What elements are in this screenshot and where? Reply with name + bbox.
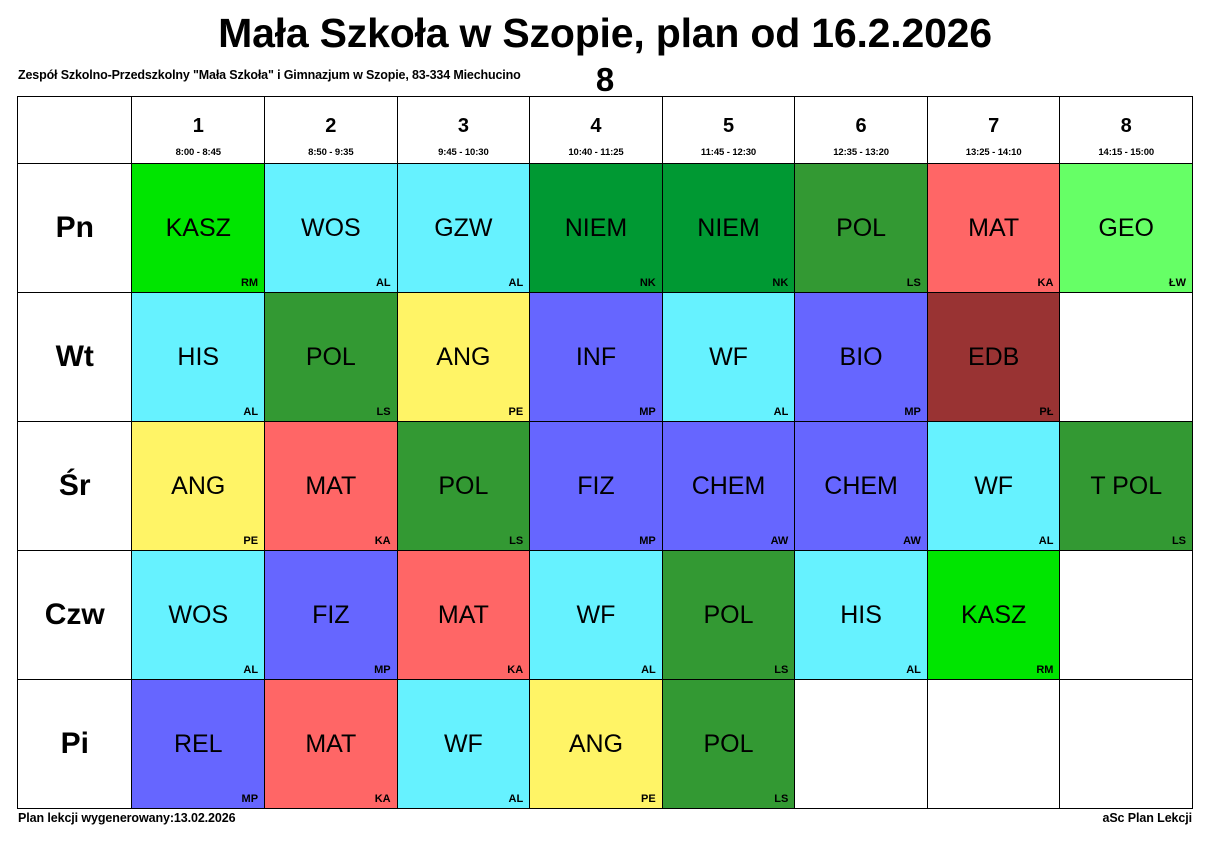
- subject-label: POL: [795, 214, 927, 242]
- lesson-cell-empty: [1060, 293, 1193, 422]
- lesson-block: MATKA: [398, 551, 530, 679]
- teacher-label: RM: [1036, 664, 1053, 676]
- subject-label: MAT: [265, 472, 397, 500]
- subject-label: HIS: [795, 601, 927, 629]
- lesson-block: POLLS: [663, 680, 795, 808]
- lesson-block: POLLS: [265, 293, 397, 421]
- lesson-block: EDBPŁ: [928, 293, 1060, 421]
- producer-label: aSc Plan Lekcji: [1102, 811, 1192, 825]
- lesson-cell[interactable]: POLLS: [795, 164, 928, 293]
- lesson-cell[interactable]: POLLS: [397, 422, 530, 551]
- timetable: 1 8:00 - 8:45 2 8:50 - 9:35 3 9:45 - 10:…: [17, 96, 1193, 809]
- subject-label: KASZ: [928, 601, 1060, 629]
- lesson-block: KASZRM: [132, 164, 264, 292]
- teacher-label: AL: [1039, 535, 1054, 547]
- subject-label: CHEM: [795, 472, 927, 500]
- teacher-label: KA: [1038, 277, 1054, 289]
- lesson-block: CHEMAW: [663, 422, 795, 550]
- lesson-cell[interactable]: INFMP: [530, 293, 663, 422]
- lesson-block: NIEMNK: [530, 164, 662, 292]
- lesson-cell[interactable]: MATKA: [265, 680, 398, 809]
- page-title: Mała Szkoła w Szopie, plan od 16.2.2026: [0, 8, 1210, 58]
- teacher-label: PE: [243, 535, 258, 547]
- subject-label: POL: [398, 472, 530, 500]
- period-time: 13:25 - 14:10: [928, 147, 1060, 159]
- lesson-cell[interactable]: NIEMNK: [662, 164, 795, 293]
- lesson-block: ANGPE: [398, 293, 530, 421]
- lesson-block: WFAL: [530, 551, 662, 679]
- timetable-row: ŚrANGPEMATKAPOLLSFIZMPCHEMAWCHEMAWWFALT …: [18, 422, 1193, 551]
- subject-label: ANG: [132, 472, 264, 500]
- lesson-block: MATKA: [265, 422, 397, 550]
- lesson-block: WOSAL: [132, 551, 264, 679]
- period-number: 6: [795, 115, 927, 137]
- lesson-block: FIZMP: [530, 422, 662, 550]
- period-header-5: 5 11:45 - 12:30: [662, 97, 795, 164]
- lesson-cell[interactable]: CHEMAW: [795, 422, 928, 551]
- class-label: 8: [0, 60, 1210, 100]
- teacher-label: MP: [242, 793, 259, 805]
- lesson-cell[interactable]: CHEMAW: [662, 422, 795, 551]
- lesson-block: WOSAL: [265, 164, 397, 292]
- subject-label: KASZ: [132, 214, 264, 242]
- teacher-label: LS: [907, 277, 921, 289]
- lesson-cell[interactable]: FIZMP: [530, 422, 663, 551]
- lesson-block: KASZRM: [928, 551, 1060, 679]
- timetable-row: CzwWOSALFIZMPMATKAWFALPOLLSHISALKASZRM: [18, 551, 1193, 680]
- lesson-cell[interactable]: GEOŁW: [1060, 164, 1193, 293]
- teacher-label: AL: [376, 277, 391, 289]
- lesson-cell[interactable]: KASZRM: [132, 164, 265, 293]
- period-header-1: 1 8:00 - 8:45: [132, 97, 265, 164]
- subject-label: WF: [928, 472, 1060, 500]
- lesson-cell[interactable]: NIEMNK: [530, 164, 663, 293]
- lesson-cell[interactable]: MATKA: [927, 164, 1060, 293]
- teacher-label: KA: [507, 664, 523, 676]
- subject-label: T POL: [1060, 472, 1192, 500]
- period-header-4: 4 10:40 - 11:25: [530, 97, 663, 164]
- teacher-label: PE: [641, 793, 656, 805]
- lesson-cell[interactable]: WFAL: [530, 551, 663, 680]
- day-label: Pi: [18, 680, 132, 809]
- period-time: 14:15 - 15:00: [1060, 147, 1192, 159]
- lesson-block: HISAL: [795, 551, 927, 679]
- lesson-block: WFAL: [398, 680, 530, 808]
- subject-label: ANG: [530, 730, 662, 758]
- subject-label: REL: [132, 730, 264, 758]
- lesson-cell[interactable]: WOSAL: [132, 551, 265, 680]
- lesson-block: RELMP: [132, 680, 264, 808]
- lesson-block: [795, 680, 927, 808]
- subject-label: INF: [530, 343, 662, 371]
- teacher-label: AL: [509, 277, 524, 289]
- timetable-row: PnKASZRMWOSALGZWALNIEMNKNIEMNKPOLLSMATKA…: [18, 164, 1193, 293]
- teacher-label: LS: [1172, 535, 1186, 547]
- lesson-block: FIZMP: [265, 551, 397, 679]
- period-number: 2: [265, 115, 397, 137]
- period-time: 12:35 - 13:20: [795, 147, 927, 159]
- teacher-label: ŁW: [1169, 277, 1186, 289]
- generated-date: Plan lekcji wygenerowany:13.02.2026: [18, 811, 235, 825]
- lesson-block: MATKA: [928, 164, 1060, 292]
- period-time: 11:45 - 12:30: [663, 147, 795, 159]
- day-label: Pn: [18, 164, 132, 293]
- teacher-label: AL: [774, 406, 789, 418]
- period-number: 7: [928, 115, 1060, 137]
- lesson-cell[interactable]: HISAL: [795, 551, 928, 680]
- period-header-6: 6 12:35 - 13:20: [795, 97, 928, 164]
- lesson-cell[interactable]: EDBPŁ: [927, 293, 1060, 422]
- subject-label: FIZ: [265, 601, 397, 629]
- lesson-cell[interactable]: RELMP: [132, 680, 265, 809]
- period-time: 8:00 - 8:45: [132, 147, 264, 159]
- teacher-label: AL: [243, 664, 258, 676]
- period-number: 8: [1060, 115, 1192, 137]
- lesson-cell[interactable]: POLLS: [662, 680, 795, 809]
- lesson-block: [1060, 551, 1192, 679]
- period-number: 5: [663, 115, 795, 137]
- subject-label: WOS: [132, 601, 264, 629]
- teacher-label: MP: [904, 406, 921, 418]
- lesson-block: ANGPE: [530, 680, 662, 808]
- lesson-cell[interactable]: ANGPE: [530, 680, 663, 809]
- lesson-block: MATKA: [265, 680, 397, 808]
- subject-label: WF: [398, 730, 530, 758]
- subject-label: ANG: [398, 343, 530, 371]
- lesson-cell[interactable]: KASZRM: [927, 551, 1060, 680]
- lesson-cell[interactable]: MATKA: [265, 422, 398, 551]
- subject-label: GEO: [1060, 214, 1192, 242]
- period-header-7: 7 13:25 - 14:10: [927, 97, 1060, 164]
- teacher-label: LS: [377, 406, 391, 418]
- subject-label: POL: [663, 730, 795, 758]
- subject-label: POL: [663, 601, 795, 629]
- lesson-cell-empty: [1060, 551, 1193, 680]
- lesson-block: [1060, 293, 1192, 421]
- teacher-label: AL: [906, 664, 921, 676]
- lesson-cell[interactable]: FIZMP: [265, 551, 398, 680]
- subject-label: MAT: [265, 730, 397, 758]
- lesson-block: BIOMP: [795, 293, 927, 421]
- lesson-cell[interactable]: HISAL: [132, 293, 265, 422]
- lesson-cell[interactable]: MATKA: [397, 551, 530, 680]
- subject-label: POL: [265, 343, 397, 371]
- lesson-cell[interactable]: POLLS: [662, 551, 795, 680]
- period-header-8: 8 14:15 - 15:00: [1060, 97, 1193, 164]
- teacher-label: AL: [243, 406, 258, 418]
- period-time: 10:40 - 11:25: [530, 147, 662, 159]
- subject-label: WF: [530, 601, 662, 629]
- teacher-label: LS: [509, 535, 523, 547]
- teacher-label: LS: [774, 793, 788, 805]
- teacher-label: LS: [774, 664, 788, 676]
- lesson-block: NIEMNK: [663, 164, 795, 292]
- timetable-body: PnKASZRMWOSALGZWALNIEMNKNIEMNKPOLLSMATKA…: [18, 164, 1193, 809]
- teacher-label: KA: [375, 535, 391, 547]
- subject-label: FIZ: [530, 472, 662, 500]
- lesson-block: POLLS: [398, 422, 530, 550]
- teacher-label: MP: [639, 535, 656, 547]
- teacher-label: AL: [509, 793, 524, 805]
- lesson-block: GEOŁW: [1060, 164, 1192, 292]
- lesson-block: [928, 680, 1060, 808]
- lesson-block: INFMP: [530, 293, 662, 421]
- subject-label: BIO: [795, 343, 927, 371]
- timetable-row: PiRELMPMATKAWFALANGPEPOLLS: [18, 680, 1193, 809]
- day-label: Czw: [18, 551, 132, 680]
- lesson-block: POLLS: [663, 551, 795, 679]
- lesson-block: WFAL: [663, 293, 795, 421]
- lesson-cell[interactable]: T POLLS: [1060, 422, 1193, 551]
- subject-label: NIEM: [663, 214, 795, 242]
- period-header-3: 3 9:45 - 10:30: [397, 97, 530, 164]
- teacher-label: PŁ: [1039, 406, 1053, 418]
- lesson-cell[interactable]: WOSAL: [265, 164, 398, 293]
- teacher-label: PE: [508, 406, 523, 418]
- teacher-label: KA: [375, 793, 391, 805]
- lesson-block: GZWAL: [398, 164, 530, 292]
- lesson-cell[interactable]: WFAL: [397, 680, 530, 809]
- teacher-label: NK: [640, 277, 656, 289]
- teacher-label: NK: [772, 277, 788, 289]
- teacher-label: MP: [374, 664, 391, 676]
- corner-cell: [18, 97, 132, 164]
- subject-label: MAT: [928, 214, 1060, 242]
- subject-label: GZW: [398, 214, 530, 242]
- lesson-cell[interactable]: ANGPE: [132, 422, 265, 551]
- lesson-cell[interactable]: WFAL: [927, 422, 1060, 551]
- teacher-label: AL: [641, 664, 656, 676]
- subject-label: CHEM: [663, 472, 795, 500]
- lesson-cell-empty: [1060, 680, 1193, 809]
- period-time: 9:45 - 10:30: [398, 147, 530, 159]
- subject-label: MAT: [398, 601, 530, 629]
- lesson-block: T POLLS: [1060, 422, 1192, 550]
- period-time: 8:50 - 9:35: [265, 147, 397, 159]
- teacher-label: MP: [639, 406, 656, 418]
- subject-label: WF: [663, 343, 795, 371]
- lesson-cell[interactable]: BIOMP: [795, 293, 928, 422]
- day-label: Śr: [18, 422, 132, 551]
- subject-label: NIEM: [530, 214, 662, 242]
- period-header-2: 2 8:50 - 9:35: [265, 97, 398, 164]
- lesson-cell[interactable]: WFAL: [662, 293, 795, 422]
- timetable-row: WtHISALPOLLSANGPEINFMPWFALBIOMPEDBPŁ: [18, 293, 1193, 422]
- subject-label: EDB: [928, 343, 1060, 371]
- lesson-block: [1060, 680, 1192, 808]
- period-number: 4: [530, 115, 662, 137]
- period-number: 3: [398, 115, 530, 137]
- lesson-cell-empty: [795, 680, 928, 809]
- lesson-block: HISAL: [132, 293, 264, 421]
- lesson-cell[interactable]: POLLS: [265, 293, 398, 422]
- timetable-header-row: 1 8:00 - 8:45 2 8:50 - 9:35 3 9:45 - 10:…: [18, 97, 1193, 164]
- lesson-cell-empty: [927, 680, 1060, 809]
- period-number: 1: [132, 115, 264, 137]
- lesson-block: ANGPE: [132, 422, 264, 550]
- teacher-label: AW: [771, 535, 789, 547]
- lesson-cell[interactable]: GZWAL: [397, 164, 530, 293]
- subject-label: WOS: [265, 214, 397, 242]
- lesson-block: WFAL: [928, 422, 1060, 550]
- lesson-block: CHEMAW: [795, 422, 927, 550]
- lesson-cell[interactable]: ANGPE: [397, 293, 530, 422]
- lesson-block: POLLS: [795, 164, 927, 292]
- subject-label: HIS: [132, 343, 264, 371]
- teacher-label: RM: [241, 277, 258, 289]
- teacher-label: AW: [903, 535, 921, 547]
- day-label: Wt: [18, 293, 132, 422]
